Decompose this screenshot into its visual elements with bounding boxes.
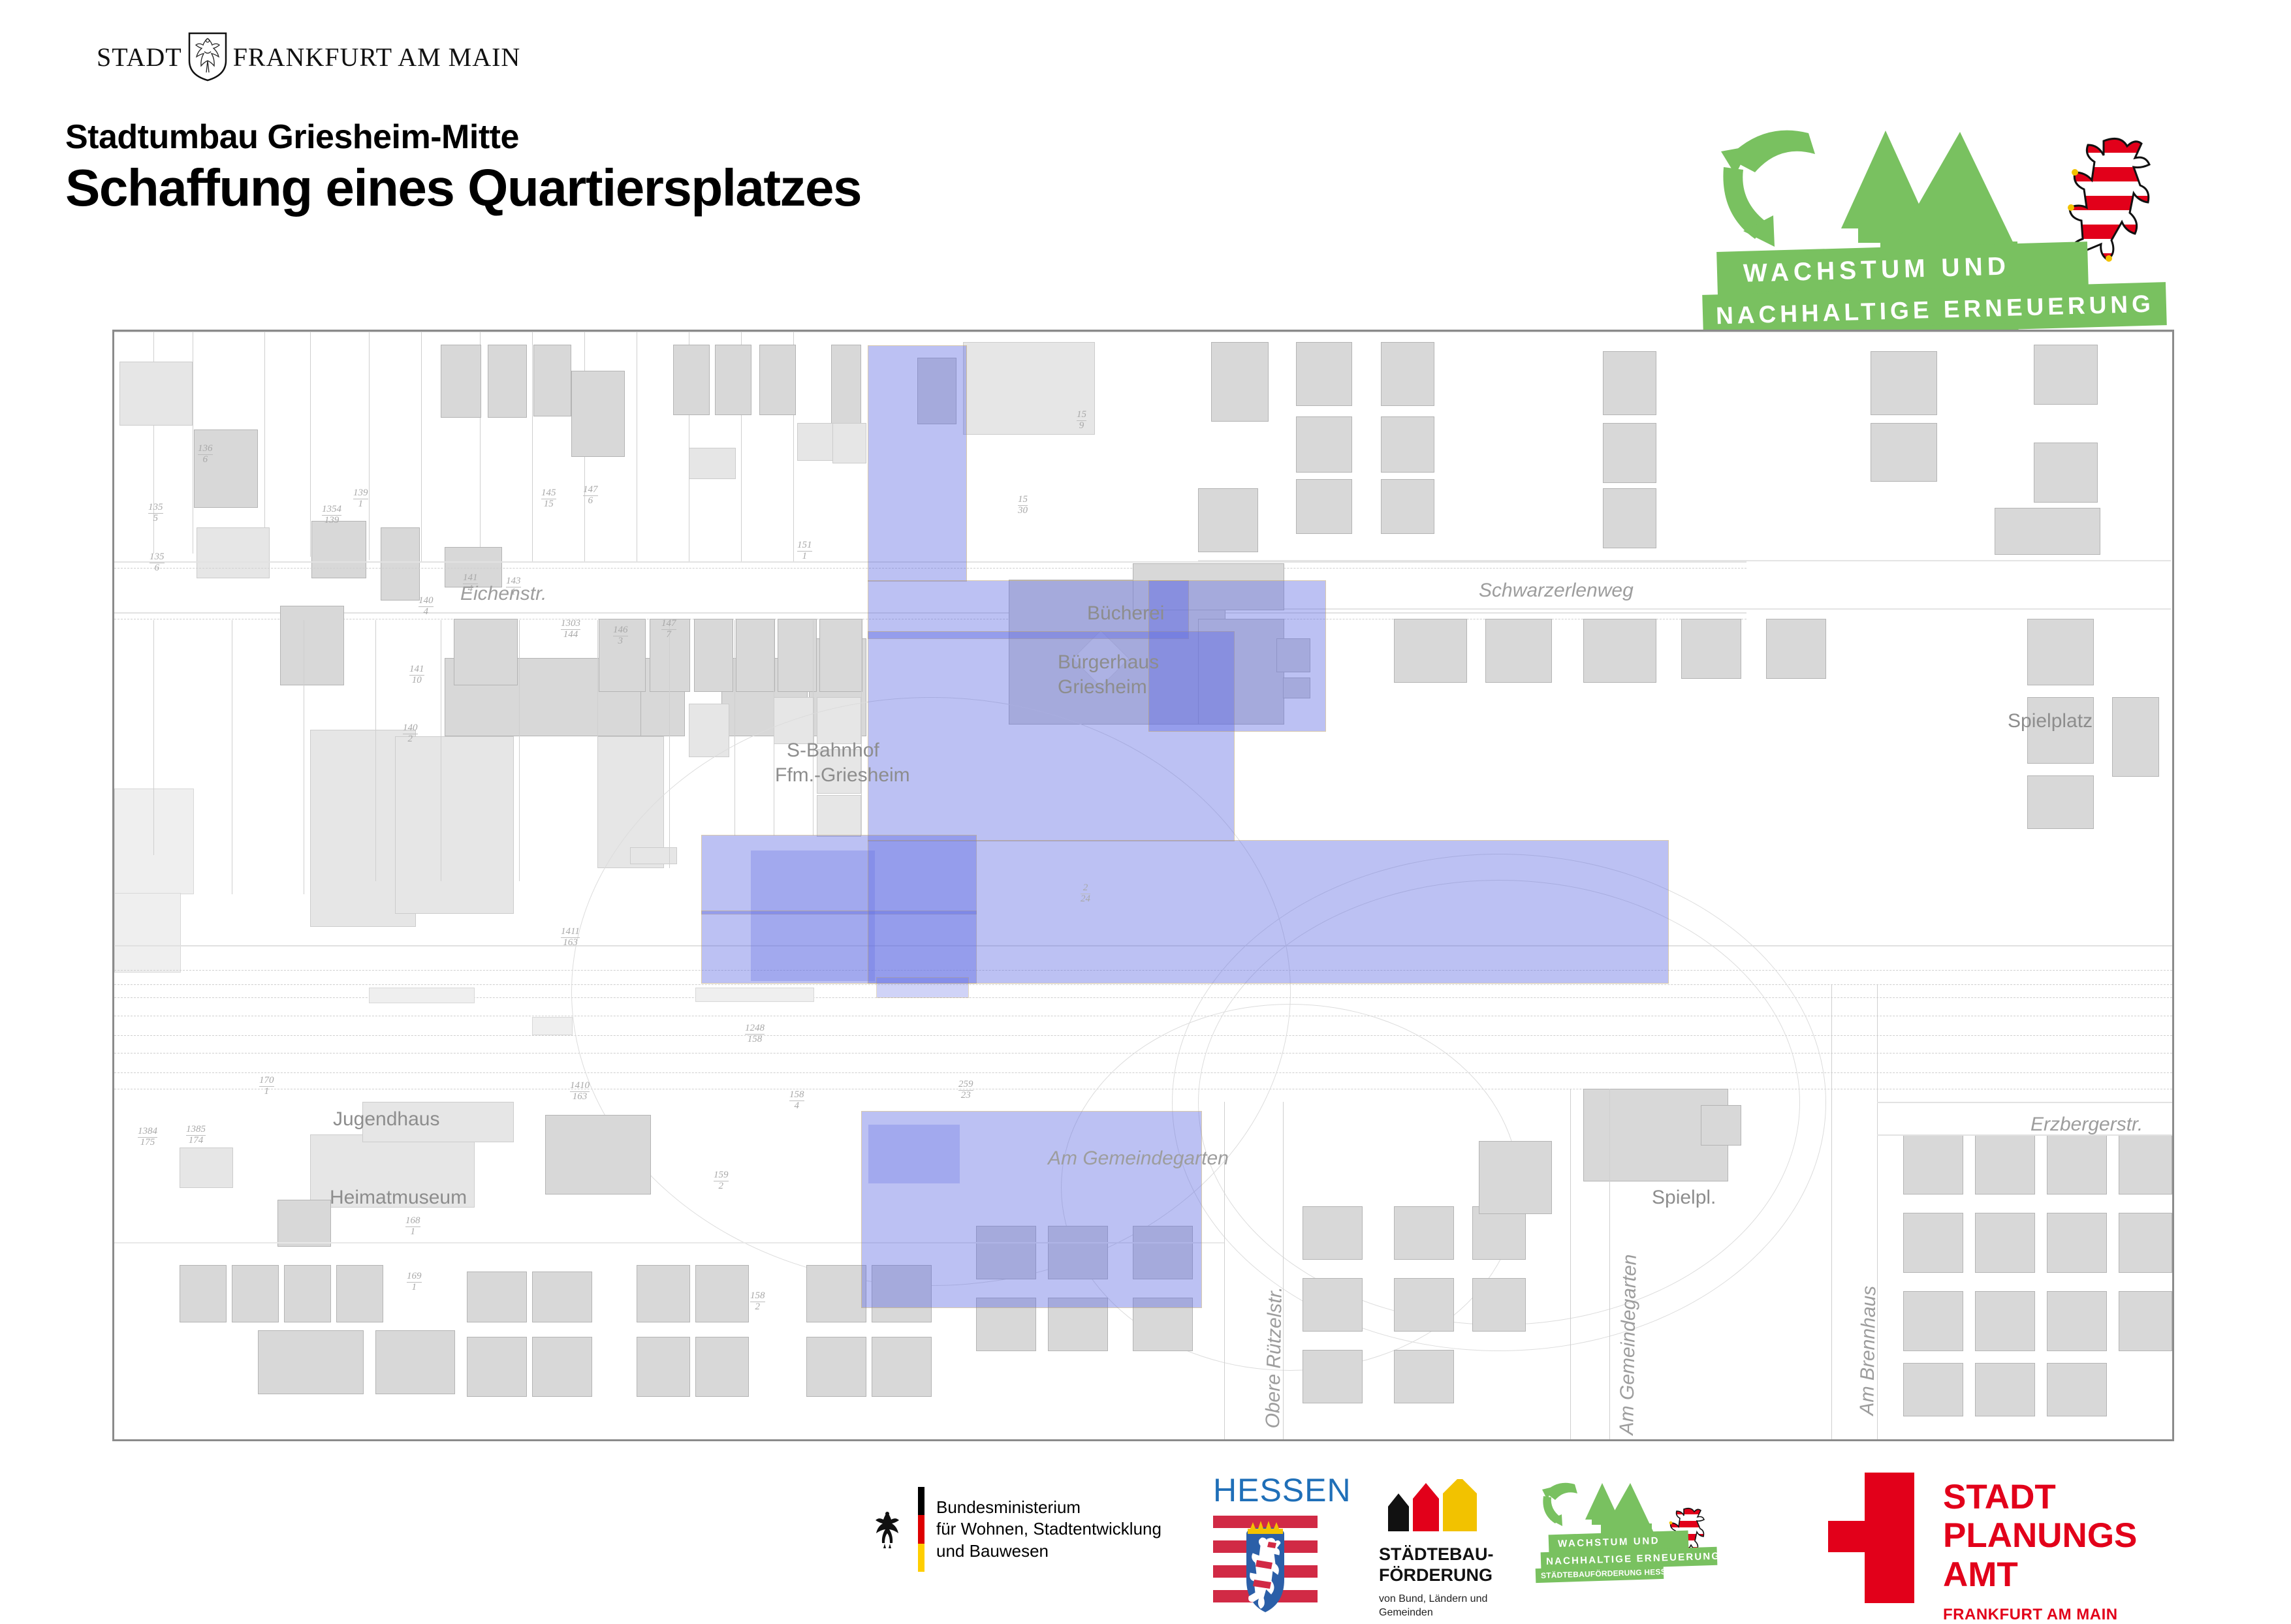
platform: [369, 988, 475, 1003]
parcel-number: 1303144: [561, 619, 580, 640]
parcel-number: 1701: [259, 1076, 274, 1097]
building: [759, 345, 796, 415]
building: [694, 619, 733, 692]
stadtplanungsamt-logo: STADT PLANUNGS AMT FRANKFURT AM MAIN: [1822, 1473, 2187, 1610]
building: [1903, 1213, 1963, 1273]
parcel-number: 1511: [797, 540, 812, 562]
street-label-am-brennhaus: Am Brennhaus: [1856, 1286, 1880, 1416]
building: [571, 371, 625, 457]
building: [532, 1337, 592, 1397]
parcel-number: 1530: [1018, 495, 1028, 516]
building: [467, 1337, 527, 1397]
frankfurt-eagle-shield-icon: [187, 32, 228, 82]
building: [277, 1200, 331, 1247]
bmwsb-line1: Bundesministerium: [936, 1497, 1161, 1518]
building: [1303, 1350, 1363, 1403]
building: [114, 893, 181, 973]
spa-line3: AMT: [1943, 1555, 2137, 1594]
building: [1296, 416, 1352, 473]
parcel-number: 1356: [150, 552, 165, 574]
poi-jugendhaus: Jugendhaus: [333, 1108, 439, 1131]
building: [819, 619, 862, 692]
building: [2119, 1291, 2172, 1351]
building: [1303, 1206, 1363, 1260]
bmwsb-line2: für Wohnen, Stadtentwicklung: [936, 1518, 1161, 1540]
parcel-number: 1402: [403, 723, 418, 745]
parcel-number: 224: [1081, 883, 1090, 905]
building: [806, 1337, 866, 1397]
staedtebau-sub1: von Bund, Ländern und: [1379, 1593, 1529, 1606]
building: [1603, 351, 1656, 415]
poi-s-bahnhof-griesheim: Ffm.-Griesheim: [775, 764, 910, 787]
parcel-number: 14515: [541, 488, 556, 510]
building: [736, 619, 775, 692]
parcel-number: 1391: [353, 488, 368, 510]
map-canvas: Eichenstr. Schwarzerlenweg Erzbergerstr.…: [114, 332, 2172, 1439]
highlight-area-south-arm: [868, 841, 1668, 983]
parcel-number: 1584: [789, 1090, 804, 1112]
building: [1394, 1350, 1454, 1403]
staedtebau-sub2: Gemeinden: [1379, 1606, 1529, 1620]
parcel-number: 1411163: [561, 927, 580, 948]
building: [1479, 1141, 1552, 1214]
building: [1394, 1278, 1454, 1332]
building: [963, 342, 1095, 435]
building: [545, 1115, 651, 1195]
building: [375, 1330, 455, 1394]
building: [2034, 345, 2098, 405]
page-footer: Bundesministerium für Wohnen, Stadtentwi…: [0, 1462, 2291, 1619]
spa-subline: FRANKFURT AM MAIN: [1943, 1606, 2137, 1624]
highlight-area-north-tail: [877, 978, 968, 997]
stadtplanungsamt-text: STADT PLANUNGS AMT FRANKFURT AM MAIN: [1943, 1473, 2137, 1624]
parcel-number: 1404: [419, 596, 434, 617]
building: [1681, 619, 1741, 679]
staedtebau-subtext: von Bund, Ländern und Gemeinden: [1379, 1593, 1529, 1620]
building: [232, 1265, 279, 1322]
building: [2047, 1213, 2107, 1273]
building: [533, 345, 571, 416]
building: [806, 1265, 866, 1322]
city-logo-word-1: STADT: [97, 42, 182, 72]
building: [1903, 1134, 1963, 1195]
building: [637, 1265, 690, 1322]
building: [1485, 619, 1552, 683]
parcel-number: 1385174: [186, 1125, 206, 1146]
parcel-number: 1414: [463, 573, 478, 595]
spa-line1: STADT: [1943, 1478, 2137, 1516]
poi-buecherei: Bücherei: [1087, 602, 1164, 625]
parcel-number: 25923: [958, 1080, 973, 1101]
building: [1303, 1278, 1363, 1332]
parcel-number: 1477: [661, 619, 676, 640]
poi-spielpl: Spielpl.: [1652, 1187, 1716, 1209]
street-label-am-gemeindegarten-vertical: Am Gemeindegarten: [1616, 1254, 1641, 1435]
building: [2027, 775, 2094, 829]
parcel-number: 1592: [714, 1170, 729, 1192]
building: [1198, 488, 1258, 552]
street-label-schwarzerlenweg: Schwarzerlenweg: [1479, 580, 1634, 602]
building: [441, 345, 481, 418]
parcel-number: 1431: [506, 576, 521, 598]
street-label-obere-ruetzelstr: Obere Rützelstr.: [1262, 1287, 1287, 1429]
building: [532, 1272, 592, 1322]
building: [689, 448, 736, 479]
building: [1381, 416, 1434, 473]
building: [2027, 619, 2094, 685]
parcel-number: 1410163: [570, 1081, 590, 1102]
building: [1903, 1363, 1963, 1416]
project-subtitle: Stadtumbau Griesheim-Mitte: [65, 117, 519, 157]
building: [695, 1337, 749, 1397]
hessen-wordmark: HESSEN: [1213, 1471, 1324, 1509]
building: [1381, 342, 1434, 406]
hessen-logo: HESSEN: [1213, 1471, 1324, 1612]
street-label-am-gemeindegarten: Am Gemeindegarten: [1048, 1148, 1229, 1170]
building: [114, 789, 194, 894]
building: [832, 423, 866, 463]
poi-s-bahnhof: S-Bahnhof: [787, 740, 879, 762]
building: [467, 1272, 527, 1322]
building: [2034, 443, 2098, 503]
poi-spielplatz: Spielplatz: [2008, 710, 2093, 732]
highlight-area-south-inner: [868, 1125, 960, 1183]
bmwsb-line3: und Bauwesen: [936, 1540, 1161, 1562]
parcel-number: 1463: [613, 625, 628, 647]
building: [1583, 619, 1656, 683]
parcel-number: 1582: [750, 1291, 765, 1313]
staedtebau-text: STÄDTEBAU- FÖRDERUNG: [1379, 1544, 1529, 1586]
building: [180, 1265, 227, 1322]
bundesadler-icon: [868, 1509, 906, 1550]
street-label-erzbergerstr: Erzbergerstr.: [2030, 1114, 2143, 1136]
building: [872, 1337, 932, 1397]
parcel-number: 1354139: [322, 505, 341, 526]
building: [1975, 1363, 2035, 1416]
building: [673, 345, 710, 415]
building: [1296, 479, 1352, 534]
wachstum-nachhaltige-erneuerung-logo-footer: WACHSTUM UND NACHHALTIGE ERNEUERUNG STÄD…: [1541, 1478, 1756, 1602]
stadt-frankfurt-logo: STADT FRANKFURT AM MAIN: [97, 34, 514, 80]
building: [1871, 423, 1937, 482]
poi-buergerhaus: Bürgerhaus: [1058, 651, 1159, 674]
building: [1603, 423, 1656, 483]
building: [381, 527, 420, 601]
building: [1766, 619, 1826, 679]
highlight-area-north-east-lobe: [1149, 581, 1325, 731]
building: [1472, 1278, 1526, 1332]
bmwsb-logo: Bundesministerium für Wohnen, Stadtentwi…: [868, 1480, 1208, 1578]
parcel-number: 1476: [583, 485, 598, 507]
building: [1975, 1291, 2035, 1351]
building: [395, 736, 514, 914]
german-flag-bar: [918, 1487, 924, 1572]
building: [1975, 1134, 2035, 1195]
building: [689, 704, 729, 757]
building: [1701, 1105, 1741, 1146]
building: [197, 527, 270, 578]
staedtebau-line1: STÄDTEBAU-: [1379, 1544, 1529, 1565]
bmwsb-text: Bundesministerium für Wohnen, Stadtentwi…: [936, 1497, 1161, 1562]
parcel-number: 1366: [198, 444, 213, 465]
building: [2119, 1134, 2172, 1195]
building: [454, 619, 518, 685]
poi-heimatmuseum: Heimatmuseum: [330, 1187, 467, 1209]
building: [284, 1265, 331, 1322]
parcel-number: 159: [1077, 410, 1086, 431]
highlight-area-north: [868, 346, 966, 581]
building: [1394, 1206, 1454, 1260]
building: [1871, 351, 1937, 415]
platform: [532, 1017, 573, 1035]
city-logo-word-2: FRANKFURT AM MAIN: [233, 42, 521, 72]
building: [488, 345, 527, 418]
cadastral-map[interactable]: Eichenstr. Schwarzerlenweg Erzbergerstr.…: [112, 330, 2174, 1441]
building: [2112, 697, 2159, 777]
building: [280, 606, 344, 685]
building: [2119, 1213, 2172, 1273]
parcel-number: 1691: [407, 1272, 422, 1293]
building: [194, 429, 258, 508]
page-header: STADT FRANKFURT AM MAIN Stadtumbau Gries…: [0, 0, 2291, 326]
building: [336, 1265, 383, 1322]
hessen-coat-of-arms-icon: [1213, 1513, 1318, 1612]
staedtebaufoerderung-logo: STÄDTEBAU- FÖRDERUNG von Bund, Ländern u…: [1379, 1479, 1529, 1610]
building: [2047, 1134, 2107, 1195]
staedtebau-line2: FÖRDERUNG: [1379, 1565, 1529, 1585]
parcel-number: 1248158: [745, 1023, 765, 1045]
building: [1211, 342, 1269, 422]
building: [637, 1337, 690, 1397]
parcel-number: 1355: [148, 503, 163, 524]
building: [311, 521, 366, 578]
page-title: Schaffung eines Quartiersplatzes: [65, 158, 861, 218]
building: [831, 345, 861, 424]
parcel-number: 1384175: [138, 1127, 157, 1148]
spa-line2: PLANUNGS: [1943, 1516, 2137, 1555]
building: [1995, 508, 2100, 555]
building: [1296, 342, 1352, 406]
parcel-number: 1681: [405, 1216, 420, 1238]
building: [1903, 1291, 1963, 1351]
building: [695, 1265, 749, 1322]
building: [1381, 479, 1434, 534]
building: [715, 345, 751, 415]
stadtplanungsamt-mark-icon: [1822, 1473, 1921, 1603]
building: [1472, 1206, 1526, 1260]
building: [1603, 488, 1656, 548]
building: [119, 362, 193, 426]
staedtebau-houses-icon: [1379, 1479, 1490, 1531]
building: [1975, 1213, 2035, 1273]
building: [180, 1148, 233, 1188]
building: [778, 619, 817, 692]
poi-buergerhaus-griesheim: Griesheim: [1058, 676, 1147, 698]
building: [2047, 1363, 2107, 1416]
building: [258, 1330, 364, 1394]
building: [1394, 619, 1467, 683]
parcel-number: 14110: [409, 664, 424, 686]
building: [2047, 1291, 2107, 1351]
